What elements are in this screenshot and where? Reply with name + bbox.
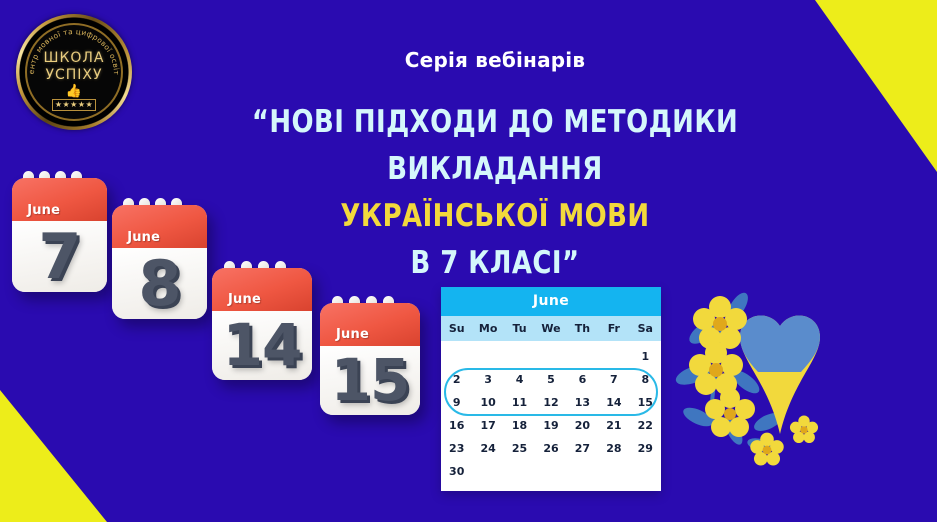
ukraine-heart-icon — [740, 315, 820, 434]
weekday-fr: Fr — [598, 316, 629, 341]
date-icon-body: 14 — [212, 311, 312, 380]
calendar-day-28[interactable]: 28 — [598, 437, 629, 460]
calendar-day-24[interactable]: 24 — [472, 437, 503, 460]
headline-block: Серія вебінарів “Нові підходи до методик… — [150, 48, 840, 287]
calendar-day-3[interactable]: 3 — [472, 368, 503, 391]
weekday-th: Th — [567, 316, 598, 341]
date-icon-month: June — [27, 203, 60, 218]
calendar-day-8[interactable]: 8 — [630, 368, 661, 391]
calendar-day-27[interactable]: 27 — [567, 437, 598, 460]
month-calendar-day-grid: ......1234567891011121314151617181920212… — [441, 341, 661, 491]
corner-triangle-bottom-left — [0, 390, 107, 522]
calendar-day-30[interactable]: 30 — [441, 460, 472, 483]
date-icon-body: 7 — [12, 221, 107, 292]
title-line-1: “Нові підходи до методики викладання — [174, 99, 816, 193]
month-calendar: June SuMoTuWeThFrSa ......12345678910111… — [441, 287, 661, 491]
calendar-day-2[interactable]: 2 — [441, 368, 472, 391]
date-icon-month: June — [336, 327, 369, 342]
ukraine-heart-flowers-icon — [668, 282, 848, 482]
calendar-empty-cell: . — [598, 345, 629, 368]
date-icon-june-15: June 15 — [320, 303, 420, 415]
date-icon-month: June — [228, 292, 261, 307]
calendar-day-1[interactable]: 1 — [630, 345, 661, 368]
calendar-day-10[interactable]: 10 — [472, 391, 503, 414]
calendar-empty-cell: . — [472, 345, 503, 368]
calendar-empty-cell: . — [567, 345, 598, 368]
logo-word-shkola: ШКОЛА — [43, 50, 104, 67]
calendar-day-19[interactable]: 19 — [535, 414, 566, 437]
calendar-day-11[interactable]: 11 — [504, 391, 535, 414]
logo-inner-disc: Центр мовної та цифрової освіти ШКОЛА УС… — [25, 23, 123, 121]
calendar-day-14[interactable]: 14 — [598, 391, 629, 414]
calendar-day-13[interactable]: 13 — [567, 391, 598, 414]
calendar-day-5[interactable]: 5 — [535, 368, 566, 391]
month-calendar-title: June — [441, 287, 661, 316]
date-icon-day: 14 — [223, 311, 302, 379]
month-calendar-weekday-row: SuMoTuWeThFrSa — [441, 316, 661, 341]
thumbs-up-icon: 👍 — [66, 86, 82, 98]
date-icon-day: 15 — [331, 346, 410, 414]
calendar-day-21[interactable]: 21 — [598, 414, 629, 437]
school-logo: Центр мовної та цифрової освіти ШКОЛА УС… — [16, 14, 132, 130]
weekday-tu: Tu — [504, 316, 535, 341]
title-line-3: в 7 класі” — [174, 240, 816, 287]
weekday-mo: Mo — [472, 316, 503, 341]
calendar-day-15[interactable]: 15 — [630, 391, 661, 414]
calendar-day-25[interactable]: 25 — [504, 437, 535, 460]
calendar-day-17[interactable]: 17 — [472, 414, 503, 437]
calendar-day-12[interactable]: 12 — [535, 391, 566, 414]
calendar-day-9[interactable]: 9 — [441, 391, 472, 414]
series-label: Серія вебінарів — [150, 48, 840, 72]
calendar-day-4[interactable]: 4 — [504, 368, 535, 391]
date-icon-header: June — [320, 303, 420, 346]
calendar-day-23[interactable]: 23 — [441, 437, 472, 460]
calendar-empty-cell: . — [504, 345, 535, 368]
weekday-we: We — [535, 316, 566, 341]
logo-word-uspihu: УСПІХУ — [45, 67, 102, 84]
star-rating: ★★★★★ — [52, 99, 96, 111]
title-line-2: української мови — [174, 193, 816, 240]
date-icon-header: June — [12, 178, 107, 221]
calendar-day-26[interactable]: 26 — [535, 437, 566, 460]
calendar-day-7[interactable]: 7 — [598, 368, 629, 391]
weekday-su: Su — [441, 316, 472, 341]
calendar-day-16[interactable]: 16 — [441, 414, 472, 437]
calendar-empty-cell: . — [535, 345, 566, 368]
webinar-poster: Центр мовної та цифрової освіти ШКОЛА УС… — [0, 0, 937, 522]
date-icon-day: 7 — [38, 220, 80, 293]
weekday-sa: Sa — [630, 316, 661, 341]
calendar-day-22[interactable]: 22 — [630, 414, 661, 437]
date-icon-body: 15 — [320, 346, 420, 415]
date-icon-june-7: June 7 — [12, 178, 107, 292]
calendar-empty-cell: . — [441, 345, 472, 368]
calendar-day-6[interactable]: 6 — [567, 368, 598, 391]
calendar-day-29[interactable]: 29 — [630, 437, 661, 460]
calendar-day-20[interactable]: 20 — [567, 414, 598, 437]
calendar-day-18[interactable]: 18 — [504, 414, 535, 437]
